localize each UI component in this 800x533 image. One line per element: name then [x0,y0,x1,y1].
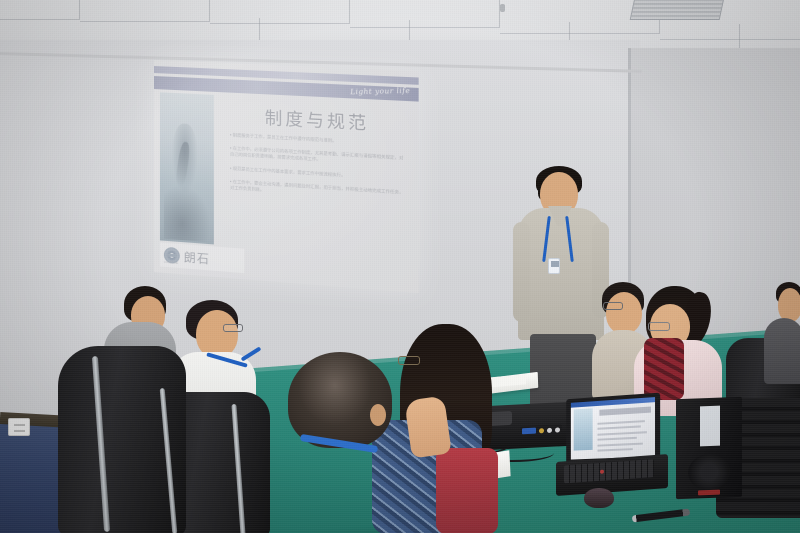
speaker-brand-logo [698,490,720,496]
audio-port-icon [547,427,552,432]
attendee-head [196,310,238,358]
attendee-scarf [644,338,684,400]
slide-bullet-list: 制度服务于工作，是员工在工作中遵守的规范与准则。 在工作中，必须遵守公司的各项工… [230,132,403,210]
speaker-label [700,406,720,447]
slide-bullet: 在工作中，要会主动沟通，遇到问题及时汇报，用于担当，并积极主动地完成工作任务，对… [230,179,403,203]
glasses-icon [648,322,670,331]
wall-outlet-icon [8,418,30,436]
laptop[interactable] [556,396,668,492]
attendee-head [778,288,800,322]
glasses-icon [223,324,243,332]
laptop-lid [566,393,660,464]
sprinkler-icon [500,4,505,12]
attendee-ear [370,404,386,426]
slide-title: 制度与规范 [228,102,408,137]
slide-bullet: 在工作中，必须遵守公司的各项工作制度，尤其是考勤、请示汇报与请假等相关规定，对自… [230,146,403,169]
laptop-slide-title [599,407,651,416]
conference-room-photo: Light your life 制度与规范 制度服务于工作，是员工在工作中遵守的… [0,0,800,533]
laptop-slide-sidebar [574,408,593,450]
presenter-id-badge [548,258,560,274]
hvac-vent-icon [630,0,725,20]
speaker-driver-icon [688,453,730,490]
laptop-base [556,454,668,496]
presenter-arm-left [513,222,530,322]
slide-company-logo: 朗石 LONSTONE [160,242,244,273]
audio-port-icon [539,428,544,433]
glasses-icon [603,302,623,310]
attendee-head [606,292,642,334]
laptop-keyboard[interactable] [564,459,654,483]
vga-port-icon [522,428,536,435]
computer-mouse[interactable] [584,488,614,508]
projection-screen: Light your life 制度与规范 制度服务于工作，是员工在工作中遵守的… [154,60,419,293]
glasses-icon [398,356,420,365]
attendee-jacket [764,318,800,384]
company-name-latin: LONSTONE [164,261,178,265]
slide: Light your life 制度与规范 制度服务于工作，是员工在工作中遵守的… [154,60,419,293]
slide-banner-script: Light your life [350,87,411,97]
slide-sidebar-image [160,92,214,244]
speaker [676,397,742,499]
company-name: 朗石 [184,248,210,267]
laptop-screen[interactable] [571,397,655,460]
